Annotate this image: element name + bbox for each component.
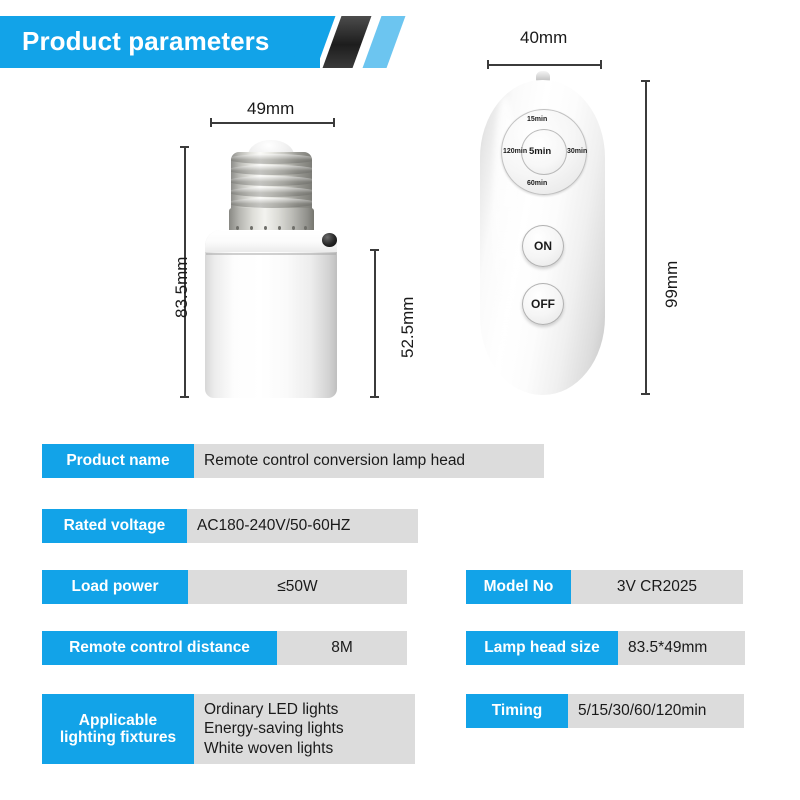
spec-value-applicable-fixtures: Ordinary LED lights Energy-saving lights…: [194, 694, 415, 764]
dimension-line-remote-width: [487, 60, 602, 69]
product-parameters-page: Product parameters 49mm 83.5mm 52.5mm 15…: [0, 0, 800, 800]
spec-key-applicable-fixtures-line2: lighting fixtures: [60, 729, 176, 746]
spec-value-fixture-line-1: Ordinary LED lights: [204, 700, 338, 719]
spec-key-model-no: Model No: [466, 570, 571, 604]
spec-value-rated-voltage: AC180-240V/50-60HZ: [187, 509, 418, 543]
header-slant-light-blue: [363, 16, 406, 68]
page-title: Product parameters: [22, 26, 269, 57]
lamp-holder-body-shoulder: [205, 230, 337, 252]
remote-timer-label-120min: 120min: [503, 148, 527, 155]
spec-row-load-power: Load power ≤50W: [42, 570, 407, 604]
dimension-label-remote-height: 99mm: [662, 261, 682, 308]
spec-row-remote-distance: Remote control distance 8M: [42, 631, 407, 665]
remote-timer-label-5min: 5min: [529, 146, 551, 157]
spec-key-remote-distance: Remote control distance: [42, 631, 277, 665]
spec-value-model-no: 3V CR2025: [571, 570, 743, 604]
remote-timer-label-60min: 60min: [527, 180, 547, 187]
remote-timer-label-30min: 30min: [567, 148, 587, 155]
spec-value-fixture-line-2: Energy-saving lights: [204, 719, 344, 738]
remote-off-button[interactable]: OFF: [522, 283, 564, 325]
spec-row-timing: Timing 5/15/30/60/120min: [466, 694, 744, 728]
lamp-holder-white-body: [205, 230, 337, 398]
spec-key-rated-voltage: Rated voltage: [42, 509, 187, 543]
remote-off-button-label: OFF: [522, 297, 564, 311]
dimension-label-lamp-width: 49mm: [247, 99, 294, 119]
spec-key-applicable-fixtures-line1: Applicable: [79, 712, 157, 729]
spec-row-product-name: Product name Remote control conversion l…: [42, 444, 544, 478]
spec-value-product-name: Remote control conversion lamp head: [194, 444, 544, 478]
spec-row-rated-voltage: Rated voltage AC180-240V/50-60HZ: [42, 509, 418, 543]
dimension-line-lamp-width: [210, 118, 335, 127]
lamp-holder-body-seam: [206, 253, 336, 255]
spec-value-load-power: ≤50W: [188, 570, 407, 604]
spec-key-product-name: Product name: [42, 444, 194, 478]
spec-key-load-power: Load power: [42, 570, 188, 604]
spec-key-lamp-head-size: Lamp head size: [466, 631, 618, 665]
remote-timer-label-15min: 15min: [527, 116, 547, 123]
dimension-label-lamp-body-height: 52.5mm: [398, 297, 418, 358]
lamp-holder-ir-sensor-icon: [322, 233, 337, 247]
spec-row-applicable-fixtures: Applicable lighting fixtures Ordinary LE…: [42, 694, 415, 764]
spec-value-remote-distance: 8M: [277, 631, 407, 665]
dimension-line-lamp-body-height: [370, 249, 379, 398]
spec-key-timing: Timing: [466, 694, 568, 728]
spec-value-lamp-head-size: 83.5*49mm: [618, 631, 745, 665]
remote-on-button-label: ON: [522, 239, 564, 253]
remote-on-button[interactable]: ON: [522, 225, 564, 267]
dimension-label-remote-width: 40mm: [520, 28, 567, 48]
spec-value-fixture-line-3: White woven lights: [204, 739, 333, 758]
lamp-holder-e27-screw-base: [231, 152, 312, 215]
spec-row-model-no: Model No 3V CR2025: [466, 570, 743, 604]
spec-key-applicable-fixtures: Applicable lighting fixtures: [42, 694, 194, 764]
spec-row-lamp-head-size: Lamp head size 83.5*49mm: [466, 631, 745, 665]
dimension-line-remote-height: [641, 80, 650, 395]
spec-value-timing: 5/15/30/60/120min: [568, 694, 744, 728]
dimension-label-lamp-height: 83.5mm: [172, 257, 192, 318]
